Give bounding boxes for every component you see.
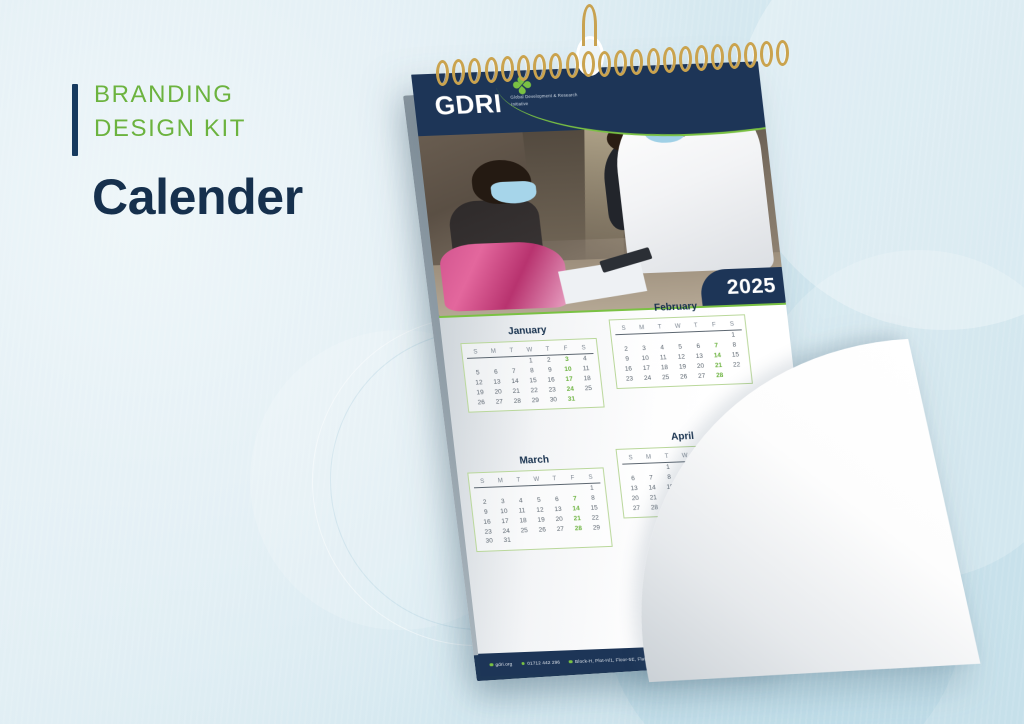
calendar-day-cell[interactable] [503, 356, 522, 367]
calendar-day-cell[interactable]: 26 [674, 371, 693, 381]
footer-contact-item[interactable]: gdri.org [489, 661, 512, 667]
accent-bar [72, 84, 78, 156]
calendar-day-cell[interactable] [688, 331, 707, 342]
calendar-day-cell[interactable] [640, 463, 659, 474]
spiral-coil [711, 44, 724, 70]
spiral-coil [549, 53, 562, 79]
footer-contact-text: Block-H, Plot-H/1, Floor-5E, Flat-5/A, B… [575, 652, 750, 664]
caption-block: BRANDING DESIGN KIT Calender [72, 78, 402, 226]
calendar-day-cell[interactable]: 2 [676, 461, 695, 472]
spiral-binding [436, 38, 796, 98]
calendar-day-cell[interactable]: 5 [731, 459, 750, 470]
spiral-coil [744, 42, 757, 68]
spiral-coil [776, 40, 789, 66]
calendar-front-page: GDRI Global Development & Research Initi… [411, 61, 827, 670]
calendar-day-cell[interactable]: 28 [710, 370, 729, 380]
calendar-day-cell[interactable] [735, 499, 754, 509]
spiral-coil [679, 46, 692, 72]
calendar-day-cell[interactable]: 4 [713, 460, 732, 471]
spiral-coil [468, 58, 481, 84]
calendar-day-cell[interactable]: 30 [681, 501, 700, 511]
spiral-coil [517, 55, 530, 81]
photo-sari-fabric [438, 241, 571, 312]
footer-contact-item[interactable]: 01712 442 296 [521, 660, 560, 666]
calendar-day-cell[interactable]: 30 [544, 394, 563, 404]
calendar-day-cell[interactable]: 4 [575, 354, 594, 365]
spiral-coil [663, 47, 676, 73]
calendar-day-cell[interactable] [546, 484, 565, 495]
month-title: January [460, 323, 596, 339]
calendar-day-cell[interactable] [516, 535, 535, 545]
calendar-day-cell[interactable]: 1 [582, 483, 601, 494]
footer-contact-text: gdri.org [495, 661, 512, 667]
calendar-day-cell[interactable] [485, 357, 504, 368]
month-block-january: January SMTWTFS1234567891011121314151617… [460, 338, 604, 413]
calendar-day-cell[interactable] [699, 500, 718, 510]
calendar-day-cell[interactable] [534, 534, 553, 544]
calendar-day-cell[interactable] [467, 358, 486, 369]
calendar-day-cell[interactable] [651, 333, 670, 344]
month-table: SMTWTFS123456789101112131415161718192021… [466, 344, 599, 407]
footer-contact-item[interactable]: Block-H, Plot-H/1, Floor-5E, Flat-5/A, B… [569, 652, 750, 664]
calendar-day-cell[interactable] [580, 393, 599, 403]
calendar-day-cell[interactable]: 3 [557, 354, 576, 365]
calendar-day-cell[interactable]: 27 [490, 396, 509, 406]
calendar-day-cell[interactable] [528, 485, 547, 496]
spiral-coil [630, 49, 643, 75]
phone-icon [521, 662, 525, 666]
calendar-day-cell[interactable] [669, 332, 688, 343]
calendar-day-cell[interactable]: 28 [645, 502, 664, 512]
calendar-photo-panel: GDRI Global Development & Research Initi… [411, 61, 786, 316]
calendar-mockup: GDRI Global Development & Research Initi… [406, 28, 926, 708]
calendar-day-cell[interactable] [633, 333, 652, 344]
calendar-day-cell[interactable]: 31 [498, 536, 517, 546]
calendar-day-cell[interactable]: 3 [694, 461, 713, 472]
calendar-day-cell[interactable] [510, 486, 529, 497]
calendar-day-cell[interactable] [492, 486, 511, 497]
globe-icon [489, 663, 493, 667]
calendar-day-cell[interactable]: 29 [526, 395, 545, 405]
month-block-april: April SMTWTFS123456789101112131415161718… [616, 444, 760, 519]
month-table: SMTWTFS123456789101112131415161718192021… [621, 450, 754, 513]
calendar-grid-sheet: January SMTWTFS1234567891011121314151617… [439, 303, 825, 654]
spiral-coil [533, 54, 546, 80]
spiral-coil [614, 50, 627, 76]
calendar-day-cell[interactable]: 27 [692, 371, 711, 381]
spiral-coil [647, 48, 660, 74]
calendar-day-cell[interactable]: 2 [539, 355, 558, 366]
calendar-day-cell[interactable]: 28 [508, 396, 527, 406]
month-title: March [467, 453, 603, 469]
location-pin-icon [569, 660, 573, 664]
calendar-day-cell[interactable]: 31 [562, 394, 581, 404]
calendar-day-cell[interactable] [564, 484, 583, 495]
kit-line-1: BRANDING [94, 78, 402, 112]
calendar-day-cell[interactable] [570, 533, 589, 543]
calendar-day-cell[interactable] [728, 369, 747, 379]
spiral-coil [728, 43, 741, 69]
spiral-coil [436, 60, 449, 86]
calendar-day-cell[interactable]: 1 [658, 462, 677, 473]
calendar-day-cell[interactable] [622, 463, 641, 474]
calendar-day-cell[interactable]: 25 [656, 372, 675, 382]
calendar-day-cell[interactable]: 30 [480, 536, 499, 546]
calendar-day-cell[interactable]: 24 [638, 373, 657, 383]
footer-contact-text: 01712 442 296 [527, 660, 560, 666]
calendar-day-cell[interactable]: 27 [627, 503, 646, 513]
spiral-coil [566, 52, 579, 78]
spiral-coil [501, 56, 514, 82]
calendar-day-cell[interactable]: 1 [724, 330, 743, 341]
calendar-day-cell[interactable]: 29 [663, 501, 682, 511]
calendar-day-cell[interactable] [588, 532, 607, 542]
kit-line-2: DESIGN KIT [94, 112, 402, 146]
calendar-day-cell[interactable] [552, 533, 571, 543]
month-block-february: February SMTWTFS123456789101112131415161… [609, 314, 753, 389]
spiral-coil [485, 57, 498, 83]
calendar-day-cell[interactable] [474, 487, 493, 498]
page-title: Calender [92, 168, 402, 226]
calendar-day-cell[interactable]: 23 [620, 373, 639, 383]
calendar-day-cell[interactable]: 1 [521, 356, 540, 367]
year-badge-label: 2025 [726, 274, 777, 299]
spiral-coil [598, 51, 611, 77]
spiral-coil [452, 59, 465, 85]
calendar-day-cell[interactable] [717, 499, 736, 509]
month-title: April [615, 429, 751, 445]
calendar-day-cell[interactable]: 26 [472, 397, 491, 407]
calendar-day-cell[interactable] [615, 334, 634, 345]
month-block-march: March SMTWTFS123456789101112131415161718… [467, 467, 612, 551]
spiral-coil [760, 41, 773, 67]
spiral-coil [582, 51, 595, 77]
wall-hook-icon [582, 4, 597, 46]
month-table: SMTWTFS123456789101112131415161718192021… [614, 320, 747, 383]
spiral-coil [695, 45, 708, 71]
month-table: SMTWTFS123456789101112131415161718192021… [473, 474, 607, 547]
kit-lines: BRANDING DESIGN KIT [94, 78, 402, 146]
calendar-day-cell[interactable] [706, 331, 725, 342]
